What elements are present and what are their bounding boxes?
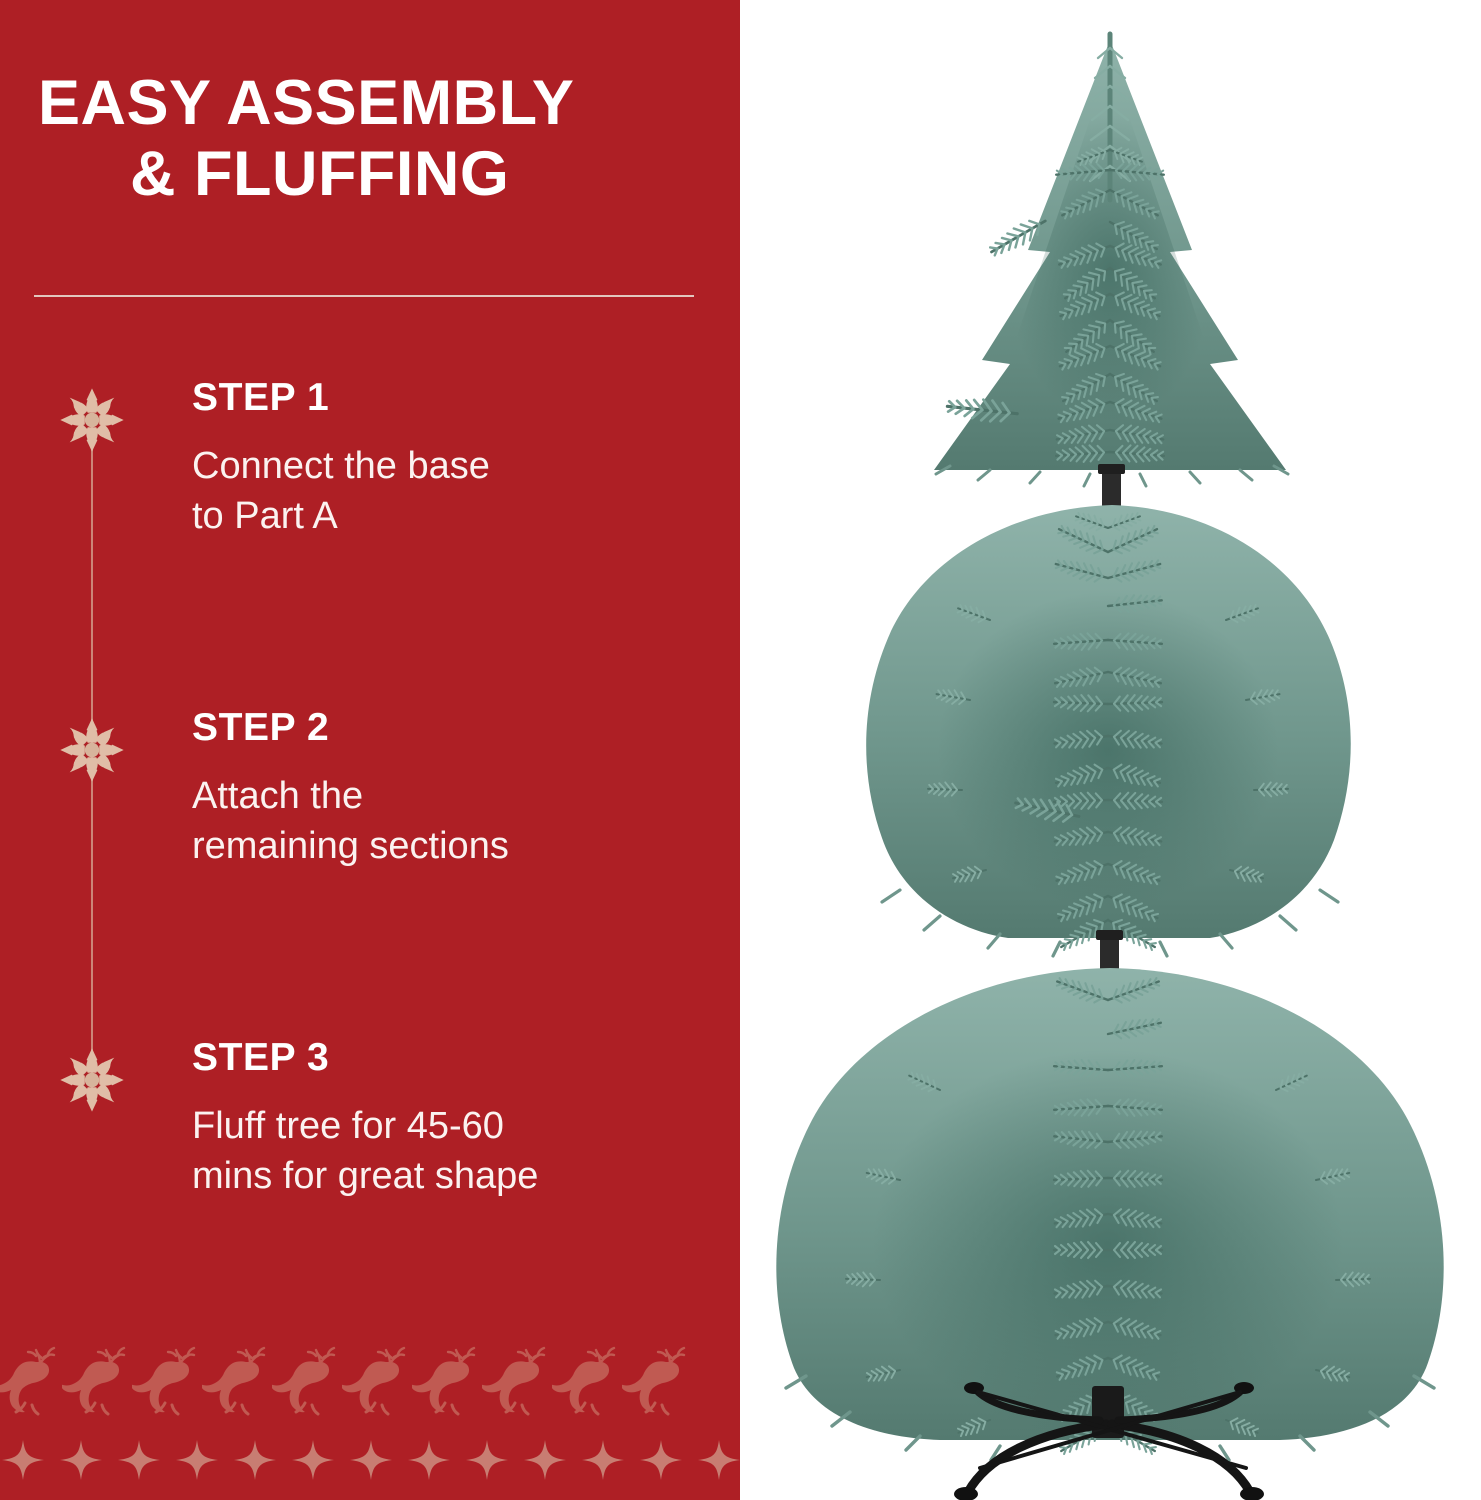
snowflake-icon: [56, 1044, 128, 1116]
four-point-star-icon: [168, 1438, 226, 1482]
reindeer-icon: [272, 1344, 342, 1418]
step-desc-3-line-2: mins for great shape: [192, 1151, 712, 1202]
step-desc-1-line-2: to Part A: [192, 491, 712, 542]
four-point-star-icon: [226, 1438, 284, 1482]
four-point-star-icon: [632, 1438, 690, 1482]
reindeer-icon: [482, 1344, 552, 1418]
step-label-3: STEP 3: [192, 1038, 712, 1079]
four-point-star-icon: [458, 1438, 516, 1482]
step-description-1: Connect the base to Part A: [192, 441, 712, 542]
reindeer-row: [0, 1344, 740, 1424]
step-label-1: STEP 1: [192, 378, 712, 419]
step-desc-2-line-1: Attach the: [192, 771, 712, 822]
title-line-2: & FLUFFING: [38, 139, 698, 210]
reindeer-icon: [202, 1344, 272, 1418]
four-point-star-icon: [284, 1438, 342, 1482]
reindeer-icon: [552, 1344, 622, 1418]
step-desc-2-line-2: remaining sections: [192, 821, 712, 872]
four-point-star-icon: [342, 1438, 400, 1482]
four-point-star-icon: [516, 1438, 574, 1482]
step-text-2: STEP 2 Attach the remaining sections: [192, 708, 712, 872]
steps-list: STEP 1 Connect the base to Part A: [0, 378, 740, 1278]
step-desc-3-line-1: Fluff tree for 45-60: [192, 1101, 712, 1152]
reindeer-icon: [412, 1344, 482, 1418]
four-point-star-icon: [0, 1438, 52, 1482]
reindeer-icon: [0, 1344, 62, 1418]
step-description-3: Fluff tree for 45-60 mins for great shap…: [192, 1101, 712, 1202]
step-text-3: STEP 3 Fluff tree for 45-60 mins for gre…: [192, 1038, 712, 1202]
step-label-2: STEP 2: [192, 708, 712, 749]
star-row: [0, 1438, 740, 1482]
four-point-star-icon: [400, 1438, 458, 1482]
step-text-1: STEP 1 Connect the base to Part A: [192, 378, 712, 542]
title-divider: [34, 295, 694, 297]
four-point-star-icon: [52, 1438, 110, 1482]
infographic-root: EASY ASSEMBLY & FLUFFING: [0, 0, 1481, 1500]
decorative-band: [0, 1340, 740, 1500]
four-point-star-icon: [574, 1438, 632, 1482]
four-point-star-icon: [690, 1438, 740, 1482]
page-title: EASY ASSEMBLY & FLUFFING: [38, 68, 698, 209]
reindeer-icon: [342, 1344, 412, 1418]
product-image: [740, 0, 1481, 1500]
title-line-1: EASY ASSEMBLY: [38, 68, 698, 139]
snowflake-icon: [56, 714, 128, 786]
step-desc-1-line-1: Connect the base: [192, 441, 712, 492]
snowflake-icon: [56, 384, 128, 456]
reindeer-icon: [132, 1344, 202, 1418]
instructions-panel: EASY ASSEMBLY & FLUFFING: [0, 0, 740, 1500]
step-description-2: Attach the remaining sections: [192, 771, 712, 872]
reindeer-icon: [62, 1344, 132, 1418]
top-section: [934, 34, 1288, 486]
reindeer-icon: [622, 1344, 692, 1418]
four-point-star-icon: [110, 1438, 168, 1482]
